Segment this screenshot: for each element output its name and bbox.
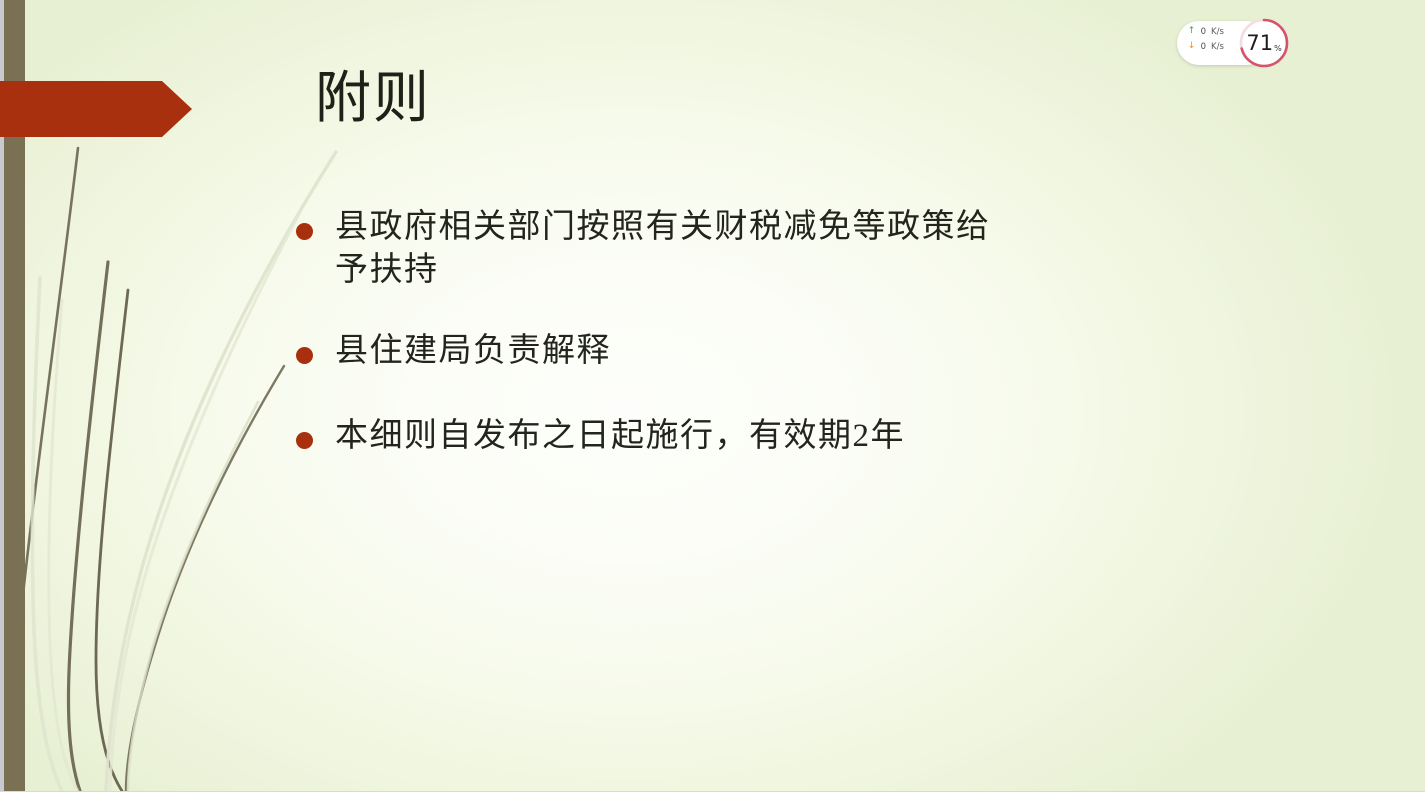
download-speed-unit: K/s: [1211, 42, 1224, 52]
up-arrow-icon: ↑: [1187, 27, 1196, 36]
bullet-list: 县政府相关部门按照有关财税减免等政策给予扶持 县住建局负责解释 本细则自发布之日…: [296, 206, 996, 458]
presentation-slide: 附则 县政府相关部门按照有关财税减免等政策给予扶持 县住建局负责解释 本细则自发…: [0, 0, 1425, 802]
list-item: 本细则自发布之日起施行，有效期2年: [296, 415, 996, 458]
upload-speed-unit: K/s: [1211, 27, 1224, 37]
list-item: 县住建局负责解释: [296, 330, 996, 373]
system-monitor-widget[interactable]: ↑ 0 K/s ↓ 0 K/s 71 %: [1177, 17, 1293, 69]
list-item-text: 本细则自发布之日起施行，有效期2年: [335, 415, 996, 458]
bullet-marker-icon: [296, 347, 313, 364]
slide-surface: 附则 县政府相关部门按照有关财税减免等政策给予扶持 县住建局负责解释 本细则自发…: [0, 0, 1425, 791]
memory-gauge[interactable]: 71 %: [1238, 17, 1290, 69]
upload-speed-value: 0: [1198, 27, 1206, 37]
bullet-marker-icon: [296, 432, 313, 449]
arrow-banner-icon: [0, 81, 192, 137]
page-title: 附则: [315, 68, 431, 131]
download-speed-value: 0: [1198, 42, 1206, 52]
slide-bottom-edge: [0, 791, 1425, 802]
gauge-percent-symbol: %: [1274, 45, 1282, 53]
bullet-marker-icon: [296, 223, 313, 240]
list-item-text: 县政府相关部门按照有关财税减免等政策给予扶持: [335, 206, 996, 292]
list-item: 县政府相关部门按照有关财税减免等政策给予扶持: [296, 206, 996, 292]
gauge-value: 71: [1246, 33, 1273, 54]
gauge-label: 71 %: [1238, 17, 1290, 69]
down-arrow-icon: ↓: [1187, 42, 1196, 51]
list-item-text: 县住建局负责解释: [335, 330, 996, 373]
